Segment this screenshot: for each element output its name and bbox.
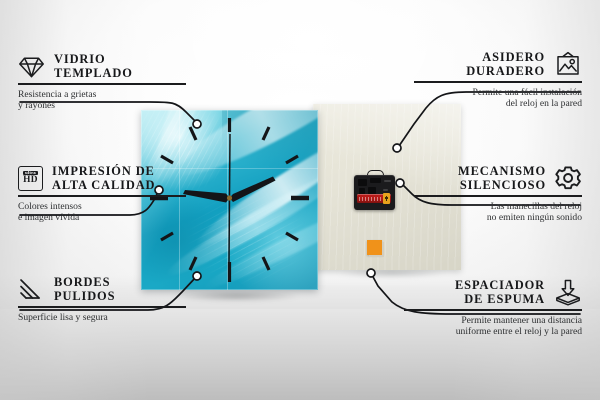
callout-title: VIDRIO TEMPLADO	[54, 52, 133, 80]
callout-description: Resistencia a grietas y rayones	[18, 89, 186, 112]
callout-header: ESPACIADOR DE ESPUMA	[404, 278, 582, 306]
callout-title: BORDES PULIDOS	[54, 275, 115, 303]
ultra-hd-bottom-text: HD	[23, 176, 38, 185]
callout-description: Permite una fácil instalación del reloj …	[414, 87, 582, 110]
connector-endpoint-left-3	[193, 272, 201, 280]
callout-rule	[18, 83, 186, 84]
callout-header: VIDRIO TEMPLADO	[18, 52, 186, 80]
connector-endpoint-right-3	[367, 269, 375, 277]
callout-description: Las manecillas del reloj no emiten ningú…	[414, 201, 582, 224]
callout-title: IMPRESIÓN DE ALTA CALIDAD	[52, 164, 155, 192]
callout-impresion-alta-calidad[interactable]: ultra HD IMPRESIÓN DE ALTA CALIDAD Color…	[18, 164, 186, 224]
ultra-hd-badge-icon: ultra HD	[18, 166, 43, 191]
callout-description: Colores intensos e imagen vívida	[18, 201, 186, 224]
callout-description: Permite mantener una distancia uniforme …	[404, 315, 582, 338]
callout-espaciador-de-espuma[interactable]: ESPACIADOR DE ESPUMA Permite mantener un…	[404, 278, 582, 338]
callout-vidrio-templado[interactable]: VIDRIO TEMPLADO Resistencia a grietas y …	[18, 52, 186, 112]
picture-frame-hanger-icon	[554, 51, 582, 77]
callout-header: ultra HD IMPRESIÓN DE ALTA CALIDAD	[18, 164, 186, 192]
connector-endpoint-right-2	[396, 179, 404, 187]
connector-endpoint-right-1	[393, 144, 401, 152]
callout-mecanismo-silencioso[interactable]: MECANISMO SILENCIOSO Las manecillas del …	[414, 164, 582, 224]
product-infographic: VIDRIO TEMPLADO Resistencia a grietas y …	[0, 0, 600, 400]
callout-bordes-pulidos[interactable]: BORDES PULIDOS Superficie lisa y segura	[18, 275, 186, 323]
callout-description: Superficie lisa y segura	[18, 312, 186, 323]
callout-title: MECANISMO SILENCIOSO	[414, 164, 546, 192]
callout-title: ESPACIADOR DE ESPUMA	[404, 278, 545, 306]
connector-endpoint-left-1	[193, 120, 201, 128]
callout-title: ASIDERO DURADERO	[414, 50, 545, 78]
diamond-icon	[18, 54, 45, 79]
callout-header: ASIDERO DURADERO	[414, 50, 582, 78]
callout-asidero-duradero[interactable]: ASIDERO DURADERO Permite una fácil insta…	[414, 50, 582, 110]
callout-header: MECANISMO SILENCIOSO	[414, 164, 582, 192]
callout-rule	[404, 309, 582, 310]
callout-rule	[18, 306, 186, 307]
callout-rule	[414, 81, 582, 82]
callout-header: BORDES PULIDOS	[18, 275, 186, 303]
arrow-into-stack-icon	[554, 279, 582, 306]
callout-rule	[18, 195, 186, 196]
callout-rule	[414, 195, 582, 196]
polished-edges-icon	[18, 277, 45, 302]
gear-icon	[555, 165, 582, 191]
